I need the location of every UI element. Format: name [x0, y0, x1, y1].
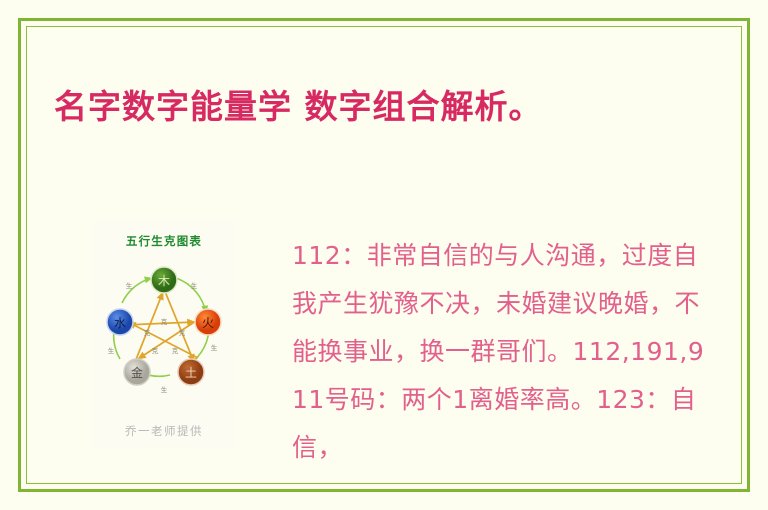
page-root: 名字数字能量学 数字组合解析。 五行生克图表	[0, 0, 768, 510]
svg-text:克: 克	[172, 347, 179, 355]
svg-text:生: 生	[211, 343, 218, 352]
content-row: 五行生克图表	[54, 205, 714, 497]
wuxing-diagram: 木 火 土 金 水	[98, 255, 230, 405]
svg-text:生: 生	[108, 346, 115, 355]
svg-text:克: 克	[179, 329, 186, 337]
svg-text:水: 水	[114, 316, 126, 330]
wuxing-chart-title: 五行生克图表	[94, 233, 234, 249]
svg-text:金: 金	[131, 365, 143, 380]
svg-text:克: 克	[144, 329, 151, 337]
svg-text:土: 土	[185, 366, 197, 380]
svg-text:克: 克	[152, 347, 159, 355]
wuxing-node-metal: 金	[124, 359, 150, 385]
svg-text:克: 克	[161, 318, 168, 326]
wuxing-node-earth: 土	[178, 359, 204, 385]
svg-text:生: 生	[126, 281, 133, 290]
svg-text:生: 生	[191, 281, 198, 290]
page-title: 名字数字能量学 数字组合解析。	[54, 84, 694, 130]
wuxing-node-water: 水	[107, 309, 133, 335]
wuxing-node-fire: 火	[195, 309, 221, 335]
svg-text:木: 木	[158, 274, 170, 288]
wuxing-chart-caption: 乔一老师提供	[94, 423, 234, 439]
svg-text:火: 火	[202, 316, 214, 330]
svg-text:生: 生	[161, 385, 168, 394]
wuxing-node-wood: 木	[151, 267, 177, 293]
wuxing-chart-thumbnail[interactable]: 五行生克图表	[94, 221, 234, 449]
article-body-text: 112：非常自信的与人沟通，过度自我产生犹豫不决，未婚建议晚婚，不能换事业，换一…	[292, 230, 714, 472]
